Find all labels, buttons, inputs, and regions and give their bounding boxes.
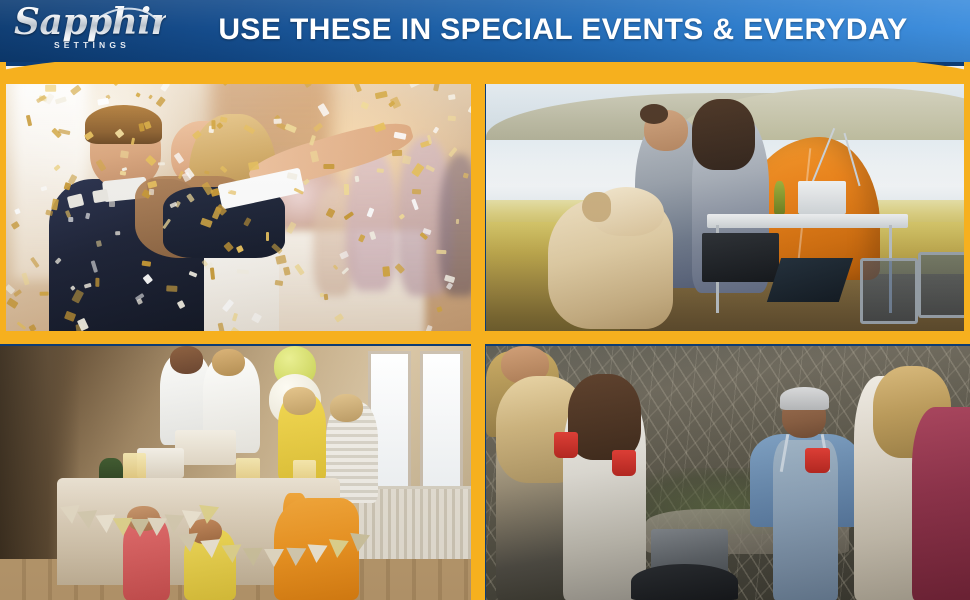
brand-logo: Sapphire SETTINGS bbox=[14, 2, 166, 58]
solar-panel bbox=[767, 258, 853, 302]
beer-bottle bbox=[774, 181, 785, 214]
cooler-box bbox=[798, 181, 846, 214]
red-cup bbox=[554, 432, 578, 457]
kettle-grill bbox=[631, 564, 737, 600]
guest-blur bbox=[439, 154, 472, 296]
child-head bbox=[189, 519, 222, 544]
red-cup bbox=[805, 448, 829, 473]
child-head bbox=[170, 346, 203, 374]
gold-vertical-divider-bottom bbox=[471, 340, 485, 600]
camper-one-hair-bun bbox=[640, 104, 669, 123]
groom-hair bbox=[85, 105, 162, 144]
campings-photo bbox=[486, 66, 966, 340]
grey-beanie bbox=[780, 387, 829, 410]
gold-vertical-divider-top bbox=[471, 60, 485, 335]
window bbox=[420, 351, 462, 493]
child-head bbox=[283, 387, 316, 415]
dog-ear bbox=[582, 192, 611, 222]
gold-edge-left bbox=[0, 60, 6, 338]
camp-table bbox=[707, 214, 909, 228]
child-head bbox=[127, 506, 160, 531]
panel-cookouts: COOKOUTS bbox=[486, 346, 970, 600]
cookouts-photo bbox=[486, 346, 970, 600]
grill-host bbox=[747, 387, 863, 600]
giraffe-cutout bbox=[274, 498, 359, 600]
camp-chair bbox=[918, 252, 966, 318]
camper-two-hair bbox=[692, 99, 754, 170]
panel-weddings: WEDDINGS bbox=[4, 66, 472, 340]
red-cup bbox=[612, 450, 636, 475]
guest-blur bbox=[346, 148, 397, 290]
header-title: USE THESE IN SPECIAL EVENTS & EVERYDAY bbox=[178, 8, 948, 52]
birthdays-photo bbox=[0, 346, 472, 600]
child-head bbox=[330, 394, 363, 422]
promo-banner: USE THESE IN SPECIAL EVENTS & EVERYDAY S… bbox=[0, 0, 970, 600]
panel-birthdays: BIRTHDAYS bbox=[0, 346, 472, 600]
panel-campings: CAMPINGS bbox=[486, 66, 966, 340]
panel-grid: WEDDINGS bbox=[0, 58, 970, 600]
gold-mid-divider bbox=[0, 331, 970, 344]
brand-name: Sapphire bbox=[14, 0, 166, 44]
guest-woman-hair bbox=[568, 374, 641, 460]
weddings-photo bbox=[4, 66, 472, 340]
guest-foreground bbox=[912, 407, 970, 600]
gold-edge-right bbox=[964, 60, 970, 338]
brand-tagline: SETTINGS bbox=[14, 40, 166, 50]
camp-chair bbox=[860, 258, 918, 324]
child-head bbox=[212, 349, 245, 377]
camp-stove bbox=[702, 233, 779, 282]
